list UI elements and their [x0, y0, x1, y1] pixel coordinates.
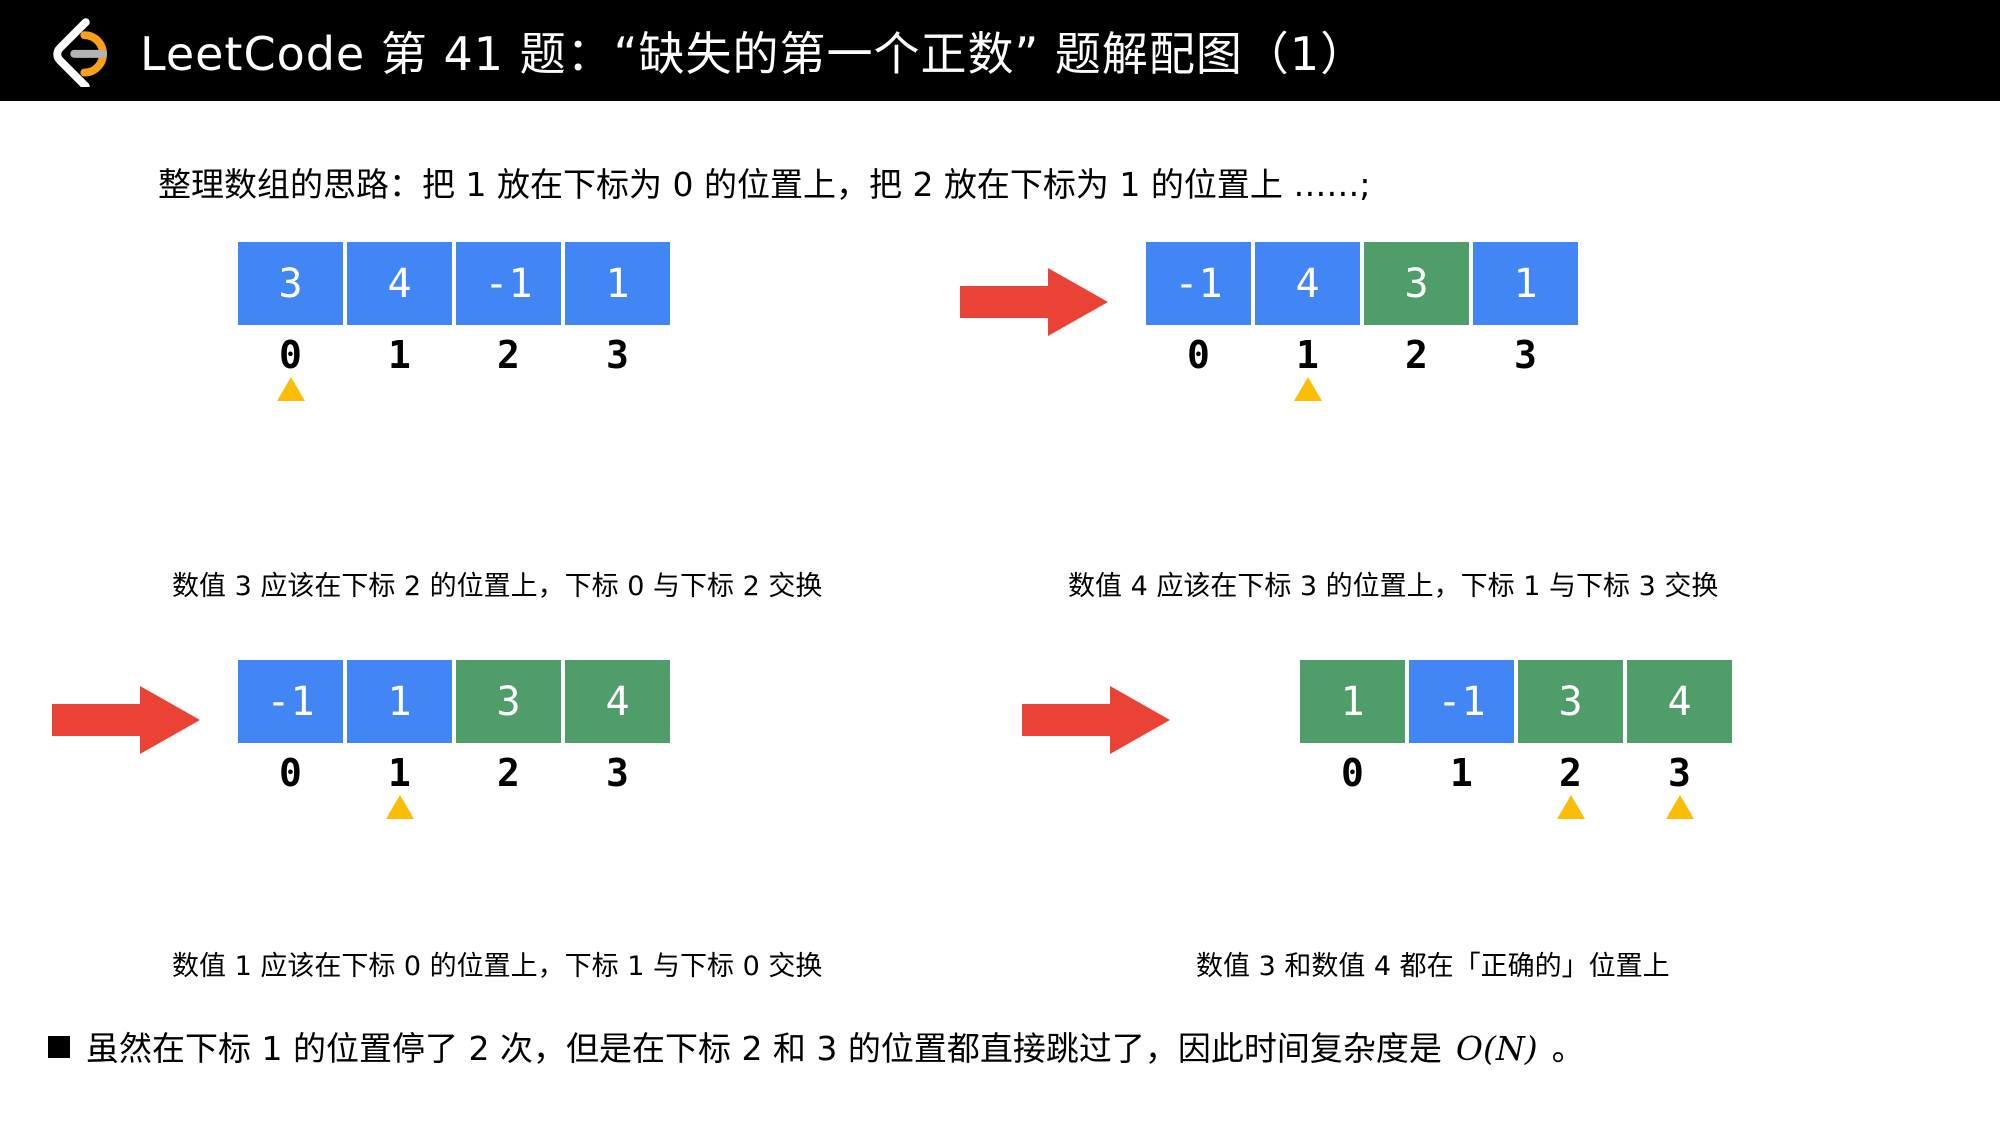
- pointer-marker-slot: [456, 795, 561, 823]
- pointer-marker-slot: [347, 377, 452, 405]
- pointer-marker-icon: [277, 377, 305, 401]
- array-cell: 1: [347, 660, 452, 743]
- leetcode-logo-icon: [44, 15, 116, 87]
- array-column: 3 2: [1518, 660, 1623, 823]
- array-column: -1 1: [1409, 660, 1514, 823]
- array-cells: 1 0 -1 1 3 2 4 3: [1300, 660, 1732, 823]
- array-column: -1 2: [456, 242, 561, 405]
- array-cell: 3: [238, 242, 343, 325]
- array-column: 4 1: [1255, 242, 1360, 405]
- array-index-label: 3: [565, 743, 670, 795]
- pointer-marker-slot: [238, 377, 343, 405]
- right-arrow-icon: [1022, 682, 1170, 758]
- summary-note-suffix: 。: [1552, 1022, 1585, 1070]
- figure-caption-2: 数值 4 应该在下标 3 的位置上，下标 1 与下标 3 交换: [1068, 564, 1718, 603]
- array-cells: -1 0 4 1 3 2 1 3: [1146, 242, 1578, 405]
- array-column: -1 0: [238, 660, 343, 823]
- figure-step-3: -1 0 1 1 3 2 4 3: [52, 660, 670, 823]
- array-column: 3 0: [238, 242, 343, 405]
- array-index-label: 3: [565, 325, 670, 377]
- array-cells: 3 0 4 1 -1 2 1 3: [238, 242, 670, 405]
- array-cell: -1: [1409, 660, 1514, 743]
- pointer-marker-slot: [565, 377, 670, 405]
- array-cell: -1: [238, 660, 343, 743]
- array-index-label: 0: [1146, 325, 1251, 377]
- array-column: 3 2: [456, 660, 561, 823]
- array-index-label: 2: [456, 325, 561, 377]
- header-bar: LeetCode 第 41 题：“缺失的第一个正数” 题解配图（1）: [0, 0, 2000, 101]
- array-column: 1 1: [347, 660, 452, 823]
- pointer-marker-slot: [1627, 795, 1732, 823]
- pointer-marker-slot: [1473, 377, 1578, 405]
- array-row: 3 0 4 1 -1 2 1 3: [238, 242, 670, 405]
- figure-caption-1: 数值 3 应该在下标 2 的位置上，下标 0 与下标 2 交换: [172, 564, 822, 603]
- pointer-marker-icon: [386, 795, 414, 819]
- array-column: 1 0: [1300, 660, 1405, 823]
- pointer-marker-slot: [238, 795, 343, 823]
- pointer-marker-slot: [1255, 377, 1360, 405]
- pointer-marker-slot: [1300, 795, 1405, 823]
- array-index-label: 2: [1518, 743, 1623, 795]
- pointer-marker-slot: [1364, 377, 1469, 405]
- right-arrow-icon: [52, 682, 200, 758]
- array-cell: 1: [1300, 660, 1405, 743]
- array-cell: 4: [1255, 242, 1360, 325]
- array-row: -1 0 4 1 3 2 1 3: [960, 242, 1578, 405]
- pointer-marker-slot: [456, 377, 561, 405]
- array-index-label: 1: [1255, 325, 1360, 377]
- array-cell: 4: [1627, 660, 1732, 743]
- pointer-marker-slot: [565, 795, 670, 823]
- array-cell: -1: [1146, 242, 1251, 325]
- summary-note-text: 虽然在下标 1 的位置停了 2 次，但是在下标 2 和 3 的位置都直接跳过了，…: [86, 1022, 1442, 1070]
- pointer-marker-icon: [1666, 795, 1694, 819]
- square-bullet-icon: [48, 1036, 70, 1058]
- array-column: 4 3: [1627, 660, 1732, 823]
- array-index-label: 0: [238, 325, 343, 377]
- array-column: 4 3: [565, 660, 670, 823]
- array-cell: 1: [1473, 242, 1578, 325]
- pointer-marker-slot: [1409, 795, 1514, 823]
- pointer-marker-icon: [1294, 377, 1322, 401]
- array-cell: 3: [1518, 660, 1623, 743]
- array-cell: 4: [565, 660, 670, 743]
- figure-step-2: -1 0 4 1 3 2 1 3: [960, 242, 1578, 405]
- summary-note: 虽然在下标 1 的位置停了 2 次，但是在下标 2 和 3 的位置都直接跳过了，…: [48, 1022, 1585, 1070]
- figure-step-4: 1 0 -1 1 3 2 4 3: [1022, 660, 1732, 823]
- array-index-label: 1: [347, 325, 452, 377]
- intro-text: 整理数组的思路：把 1 放在下标为 0 的位置上，把 2 放在下标为 1 的位置…: [158, 158, 1371, 206]
- array-index-label: 3: [1627, 743, 1732, 795]
- complexity-formula: O(N): [1456, 1029, 1538, 1068]
- array-cell: 1: [565, 242, 670, 325]
- array-cell: -1: [456, 242, 561, 325]
- right-arrow-icon: [960, 264, 1108, 340]
- array-column: 3 2: [1364, 242, 1469, 405]
- figure-caption-4: 数值 3 和数值 4 都在「正确的」位置上: [1196, 944, 1670, 983]
- array-cell: 4: [347, 242, 452, 325]
- pointer-marker-slot: [1518, 795, 1623, 823]
- array-row: -1 0 1 1 3 2 4 3: [52, 660, 670, 823]
- array-column: -1 0: [1146, 242, 1251, 405]
- page-title: LeetCode 第 41 题：“缺失的第一个正数” 题解配图（1）: [140, 18, 1367, 84]
- array-index-label: 2: [456, 743, 561, 795]
- array-index-label: 1: [1409, 743, 1514, 795]
- array-index-label: 1: [347, 743, 452, 795]
- array-column: 1 3: [565, 242, 670, 405]
- array-column: 1 3: [1473, 242, 1578, 405]
- array-index-label: 0: [238, 743, 343, 795]
- figure-caption-3: 数值 1 应该在下标 0 的位置上，下标 1 与下标 0 交换: [172, 944, 822, 983]
- array-index-label: 3: [1473, 325, 1578, 377]
- array-index-label: 0: [1300, 743, 1405, 795]
- array-index-label: 2: [1364, 325, 1469, 377]
- array-column: 4 1: [347, 242, 452, 405]
- pointer-marker-slot: [347, 795, 452, 823]
- array-cell: 3: [1364, 242, 1469, 325]
- array-cell: 3: [456, 660, 561, 743]
- array-row: 1 0 -1 1 3 2 4 3: [1022, 660, 1732, 823]
- pointer-marker-slot: [1146, 377, 1251, 405]
- figure-step-1: 3 0 4 1 -1 2 1 3: [238, 242, 670, 405]
- pointer-marker-icon: [1557, 795, 1585, 819]
- array-cells: -1 0 1 1 3 2 4 3: [238, 660, 670, 823]
